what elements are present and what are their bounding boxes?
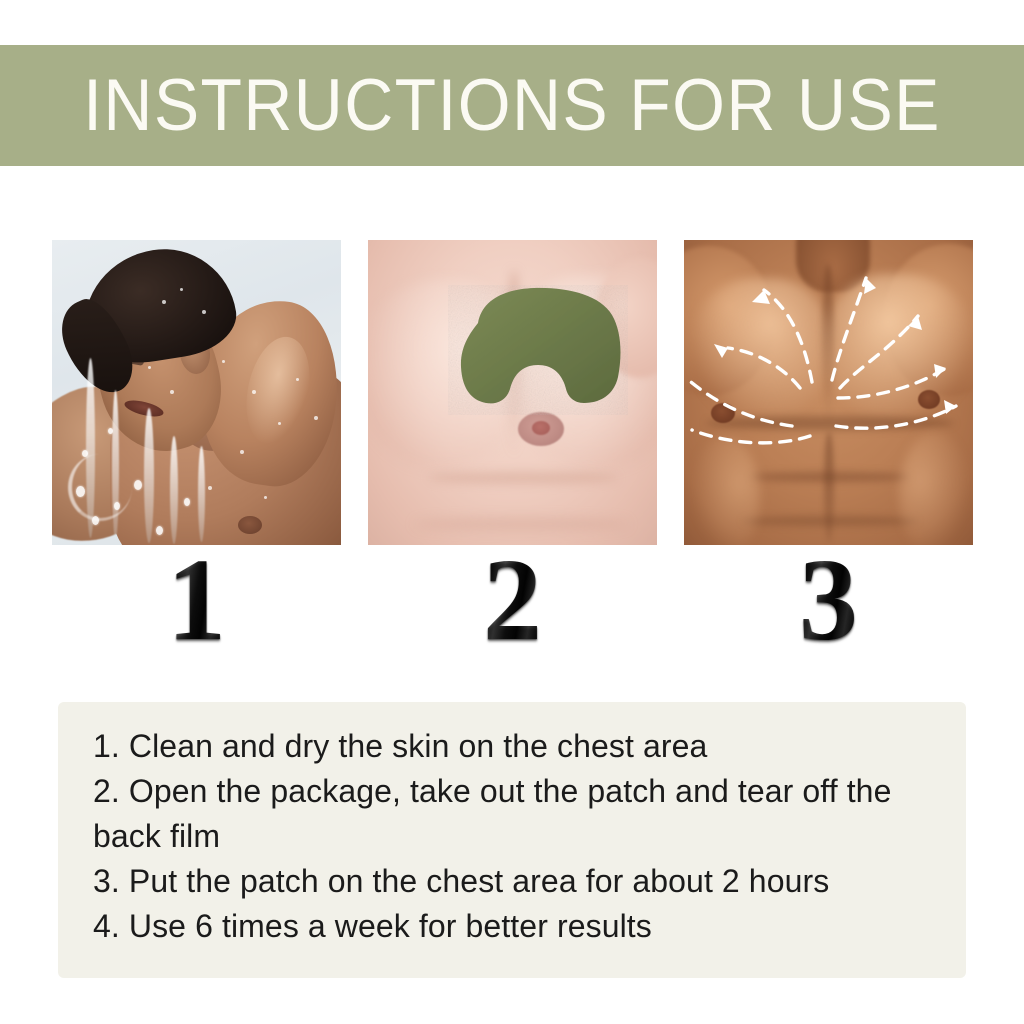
skin-water-speck: [222, 360, 225, 363]
instruction-line: 4. Use 6 times a week for better results: [93, 904, 942, 949]
water-droplet: [82, 450, 88, 457]
water-droplet: [184, 498, 190, 506]
skin-water-speck: [202, 310, 206, 314]
skin-water-speck: [278, 422, 281, 425]
skin-water-speck: [314, 416, 318, 420]
page-title: INSTRUCTIONS FOR USE: [36, 45, 988, 166]
skin-water-speck: [252, 390, 256, 394]
instruction-line: 3. Put the patch on the chest area for a…: [93, 859, 942, 904]
step-1-number-cell: 1: [52, 548, 341, 652]
instructions-for-use-graphic: INSTRUCTIONS FOR USE: [0, 0, 1024, 1024]
skin-water-speck: [162, 300, 166, 304]
skin-water-speck: [296, 378, 299, 381]
step-number: 3: [799, 541, 858, 659]
step-2-number-cell: 2: [368, 548, 657, 652]
step-3-image: [684, 240, 973, 545]
abdomen-crease-2: [414, 518, 629, 530]
instructions-panel: 1. Clean and dry the skin on the chest a…: [58, 702, 966, 978]
step-1-image: [52, 240, 341, 545]
instruction-line: 2. Open the package, take out the patch …: [93, 769, 942, 859]
water-droplet: [76, 486, 85, 497]
step-3-number-cell: 3: [684, 548, 973, 652]
skin-water-speck: [240, 450, 244, 454]
water-droplet: [92, 516, 99, 525]
massage-direction-arrows: [684, 240, 973, 545]
skin-water-speck: [208, 486, 212, 490]
water-droplet: [108, 428, 113, 434]
instruction-line: 1. Clean and dry the skin on the chest a…: [93, 724, 942, 769]
water-stream-5: [198, 446, 205, 542]
green-patch: [448, 285, 628, 430]
water-droplet: [134, 480, 142, 490]
step-number: 2: [483, 541, 542, 659]
step-images-row: [52, 240, 973, 545]
abdomen-crease-1: [428, 472, 618, 484]
instructions-list: 1. Clean and dry the skin on the chest a…: [93, 724, 942, 949]
skin-water-speck: [148, 366, 151, 369]
water-stream-3: [144, 408, 154, 543]
skin-water-speck: [170, 390, 174, 394]
nipple-shape: [238, 516, 262, 534]
step-number: 1: [167, 541, 226, 659]
water-stream-4: [170, 436, 178, 544]
step-2-image: [368, 240, 657, 545]
water-droplet: [156, 526, 163, 535]
step-numbers-row: 1 2 3: [52, 548, 973, 652]
skin-water-speck: [180, 288, 183, 291]
water-droplet: [114, 502, 120, 510]
skin-water-speck: [264, 496, 267, 499]
